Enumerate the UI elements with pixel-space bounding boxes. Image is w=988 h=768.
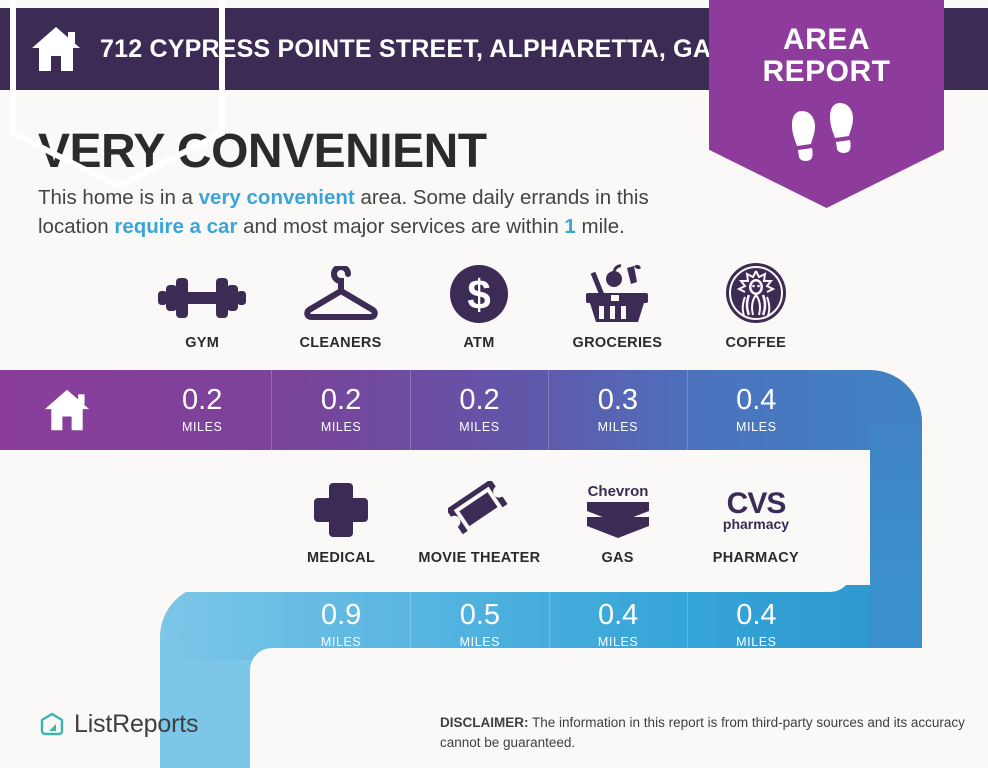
poi-cell-coffee: COFFEE [687, 262, 825, 351]
poi-label-gym: GYM [185, 335, 219, 351]
poi-label-coffee: COFFEE [725, 335, 786, 351]
disclaimer-label: DISCLAIMER: [440, 715, 529, 730]
desc-part-4: and most major services are within [237, 215, 564, 238]
distance-cell-groceries: 0.3 MILES [548, 370, 686, 450]
poi-cell-groceries: GROCERIES [548, 262, 686, 351]
distance-unit: MILES [321, 635, 362, 649]
distance-cell-atm: 0.2 MILES [410, 370, 548, 450]
poi-cell-medical: MEDICAL [272, 477, 410, 566]
disclaimer: DISCLAIMER: The information in this repo… [440, 713, 980, 752]
poi-icon-row-2: MEDICAL MOVIE THEATER Chevron [272, 477, 825, 566]
grocery-basket-icon [581, 262, 653, 324]
distance-unit: MILES [459, 420, 500, 434]
badge-title-line1: AREA [709, 24, 944, 56]
distance-value: 0.3 [598, 386, 638, 415]
listreports-logo-icon [38, 711, 66, 739]
medical-cross-icon [312, 477, 370, 539]
desc-part-3: require a car [114, 215, 237, 238]
poi-label-cleaners: CLEANERS [300, 335, 382, 351]
svg-text:Chevron: Chevron [587, 483, 648, 500]
distance-cell-movie-theater: 0.5 MILES [410, 585, 548, 665]
listreports-logo-text: ListReports [74, 710, 198, 739]
distance-unit: MILES [460, 635, 501, 649]
badge-border [8, 0, 227, 194]
chevron-logo-icon: Chevron [583, 477, 653, 539]
distance-value: 0.9 [321, 601, 361, 630]
distance-cell-cleaners: 0.2 MILES [271, 370, 409, 450]
poi-label-groceries: GROCERIES [573, 335, 663, 351]
poi-label-atm: ATM [463, 335, 494, 351]
hanger-icon [299, 262, 383, 324]
poi-cell-atm: $ ATM [410, 262, 548, 351]
distance-unit: MILES [321, 420, 362, 434]
distance-value: 0.5 [460, 601, 500, 630]
poi-cell-gym: GYM [133, 262, 271, 351]
footprints-icon [782, 103, 872, 165]
poi-cell-pharmacy: CVS pharmacy PHARMACY [687, 477, 825, 566]
distance-row-2: 0.9 MILES 0.5 MILES 0.4 MILES 0.4 MILES [272, 585, 825, 665]
distance-unit: MILES [736, 635, 777, 649]
poi-label-gas: GAS [601, 550, 633, 566]
svg-text:$: $ [467, 271, 490, 318]
starbucks-logo-icon [725, 262, 787, 324]
poi-cell-gas: Chevron GAS [549, 477, 687, 566]
svg-text:pharmacy: pharmacy [723, 516, 789, 532]
distance-value: 0.2 [459, 386, 499, 415]
dumbbell-icon [156, 262, 248, 324]
distance-value: 0.4 [736, 601, 776, 630]
area-report-page: 712 CYPRESS POINTE STREET, ALPHARETTA, G… [0, 0, 988, 768]
distance-cell-gym: 0.2 MILES [133, 370, 271, 450]
movie-ticket-icon [448, 477, 510, 539]
distance-row-1: 0.2 MILES 0.2 MILES 0.2 MILES 0.3 MILES … [133, 370, 825, 450]
home-icon [43, 386, 91, 434]
poi-cell-cleaners: CLEANERS [271, 262, 409, 351]
poi-cell-movie-theater: MOVIE THEATER [410, 477, 548, 566]
distance-value: 0.2 [321, 386, 361, 415]
distance-cell-gas: 0.4 MILES [549, 585, 687, 665]
dollar-circle-icon: $ [449, 262, 509, 324]
poi-label-medical: MEDICAL [307, 550, 375, 566]
cvs-pharmacy-logo-icon: CVS pharmacy [710, 477, 802, 539]
poi-label-movie-theater: MOVIE THEATER [418, 550, 540, 566]
distance-unit: MILES [598, 635, 639, 649]
origin-home-cell [0, 370, 133, 450]
distance-value: 0.4 [598, 601, 638, 630]
distance-cell-pharmacy: 0.4 MILES [687, 585, 825, 665]
distance-value: 0.4 [736, 386, 776, 415]
desc-part-6: mile. [576, 215, 625, 238]
badge-title: AREA REPORT [709, 24, 944, 88]
distance-cell-coffee: 0.4 MILES [687, 370, 825, 450]
distance-unit: MILES [182, 420, 223, 434]
distance-unit: MILES [736, 420, 777, 434]
poi-label-pharmacy: PHARMACY [713, 550, 799, 566]
desc-part-5: 1 [564, 215, 575, 238]
listreports-logo: ListReports [38, 710, 198, 739]
distance-value: 0.2 [182, 386, 222, 415]
badge-title-line2: REPORT [709, 56, 944, 88]
distance-cell-medical: 0.9 MILES [272, 585, 410, 665]
poi-icon-row-1: GYM CLEANERS $ ATM [133, 262, 825, 351]
distance-unit: MILES [598, 420, 639, 434]
